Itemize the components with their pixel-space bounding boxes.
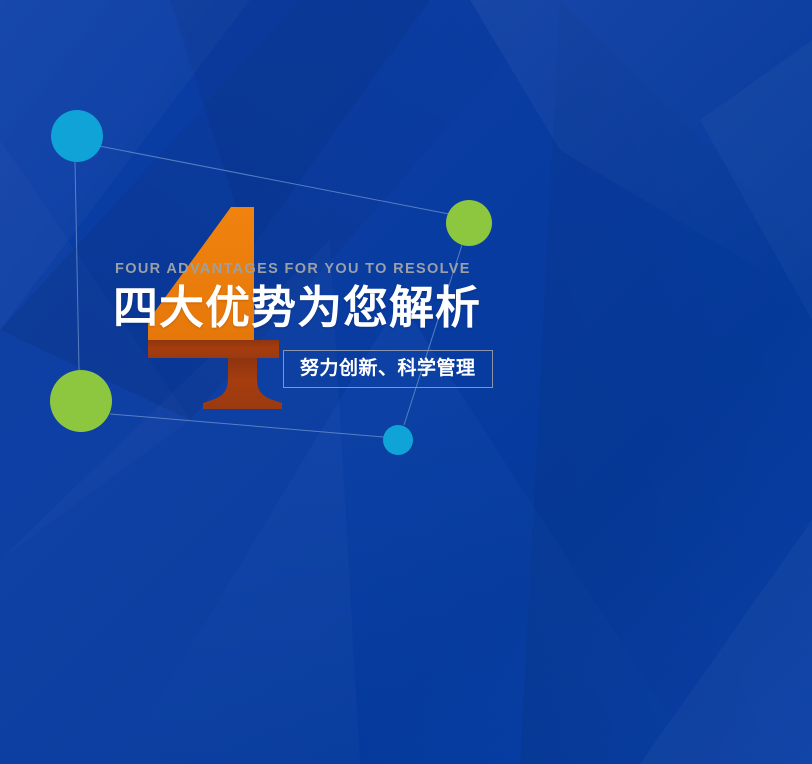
numeral-four-bottom [148,340,282,409]
promo-banner: FOUR ADVANTAGES FOR YOU TO RESOLVE 四大优势为… [0,0,812,764]
node-bottom-right [383,425,413,455]
edge-bottom-left-to-bottom-right [110,414,384,437]
banner-tagline: 努力创新、科学管理 [283,350,493,388]
node-top-left [51,110,103,162]
banner-headline: 四大优势为您解析 [113,285,713,331]
node-bottom-left [50,370,112,432]
banner-tagline-wrap: 努力创新、科学管理 [283,350,493,388]
banner-text-block: FOUR ADVANTAGES FOR YOU TO RESOLVE 四大优势为… [113,262,713,330]
banner-eyebrow: FOUR ADVANTAGES FOR YOU TO RESOLVE [115,262,713,277]
node-top-right [446,200,492,246]
edge-top-left-to-bottom-left [75,162,79,370]
